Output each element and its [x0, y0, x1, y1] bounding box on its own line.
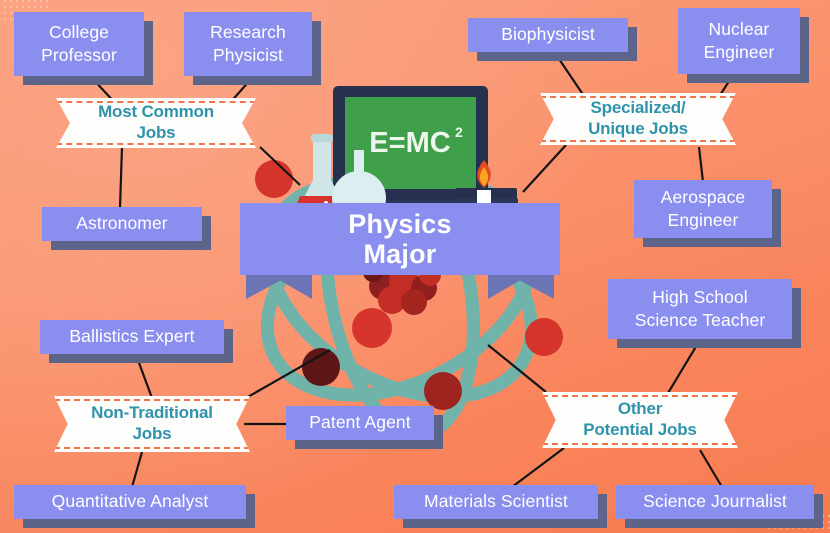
line-non-traditional-to-center: [246, 350, 330, 398]
category-label: Specialized/Unique Jobs: [582, 98, 694, 139]
category-ribbon-specialized-unique-jobs[interactable]: Specialized/Unique Jobs: [540, 93, 736, 145]
line-aerospace-engineer: [699, 147, 703, 182]
line-science-journalist: [700, 450, 722, 487]
line-biophysicist: [555, 53, 584, 96]
ribbon-dash-bottom: [54, 447, 250, 449]
line-specialized-to-center: [523, 145, 566, 192]
job-box-astronomer[interactable]: Astronomer: [42, 207, 202, 241]
job-label: ResearchPhysicist: [210, 21, 286, 67]
job-label: Astronomer: [76, 212, 167, 235]
job-label: NuclearEngineer: [704, 18, 775, 64]
job-box-high-school-science-teacher[interactable]: High SchoolScience Teacher: [608, 279, 792, 339]
line-high-school-teacher: [668, 340, 700, 393]
category-label: Non-TraditionalJobs: [85, 403, 219, 444]
category-label: Most CommonJobs: [92, 102, 220, 143]
job-label: High SchoolScience Teacher: [635, 286, 766, 332]
job-box-college-professor[interactable]: CollegeProfessor: [14, 12, 144, 76]
line-most-common-to-center: [260, 147, 300, 185]
job-label: AerospaceEngineer: [661, 186, 746, 232]
infographic-canvas: E=MC 2: [0, 0, 830, 533]
job-box-research-physicist[interactable]: ResearchPhysicist: [184, 12, 312, 76]
job-box-science-journalist[interactable]: Science Journalist: [616, 485, 814, 519]
main-title-banner: PhysicsMajor: [240, 203, 560, 269]
line-astronomer: [120, 147, 122, 208]
line-other-potential-to-center: [488, 345, 546, 392]
job-box-quantitative-analyst[interactable]: Quantitative Analyst: [14, 485, 246, 519]
job-box-patent-agent[interactable]: Patent Agent: [286, 406, 434, 440]
category-ribbon-other-potential-jobs[interactable]: OtherPotential Jobs: [542, 392, 738, 448]
job-box-biophysicist[interactable]: Biophysicist: [468, 18, 628, 52]
job-label: CollegeProfessor: [41, 21, 117, 67]
job-label: Patent Agent: [309, 411, 410, 434]
line-materials-scientist: [512, 448, 564, 487]
job-box-ballistics-expert[interactable]: Ballistics Expert: [40, 320, 224, 354]
job-label: Science Journalist: [643, 490, 787, 513]
banner-face: PhysicsMajor: [240, 203, 560, 275]
category-ribbon-non-traditional-jobs[interactable]: Non-TraditionalJobs: [54, 396, 250, 452]
job-label: Materials Scientist: [424, 490, 568, 513]
job-box-nuclear-engineer[interactable]: NuclearEngineer: [678, 8, 800, 74]
ribbon-dash-bottom: [542, 443, 738, 445]
category-label: OtherPotential Jobs: [577, 399, 702, 440]
job-label: Biophysicist: [501, 23, 595, 46]
main-title-text: PhysicsMajor: [348, 209, 451, 269]
job-box-aerospace-engineer[interactable]: AerospaceEngineer: [634, 180, 772, 238]
ribbon-dash-bottom: [540, 140, 736, 142]
job-label: Quantitative Analyst: [52, 490, 209, 513]
ribbon-dash-top: [542, 395, 738, 397]
job-box-materials-scientist[interactable]: Materials Scientist: [394, 485, 598, 519]
job-label: Ballistics Expert: [69, 325, 194, 348]
category-ribbon-most-common-jobs[interactable]: Most CommonJobs: [56, 98, 256, 148]
ribbon-dash-top: [54, 399, 250, 401]
line-quantitative-analyst: [132, 452, 142, 487]
line-ballistics-expert: [135, 352, 152, 398]
